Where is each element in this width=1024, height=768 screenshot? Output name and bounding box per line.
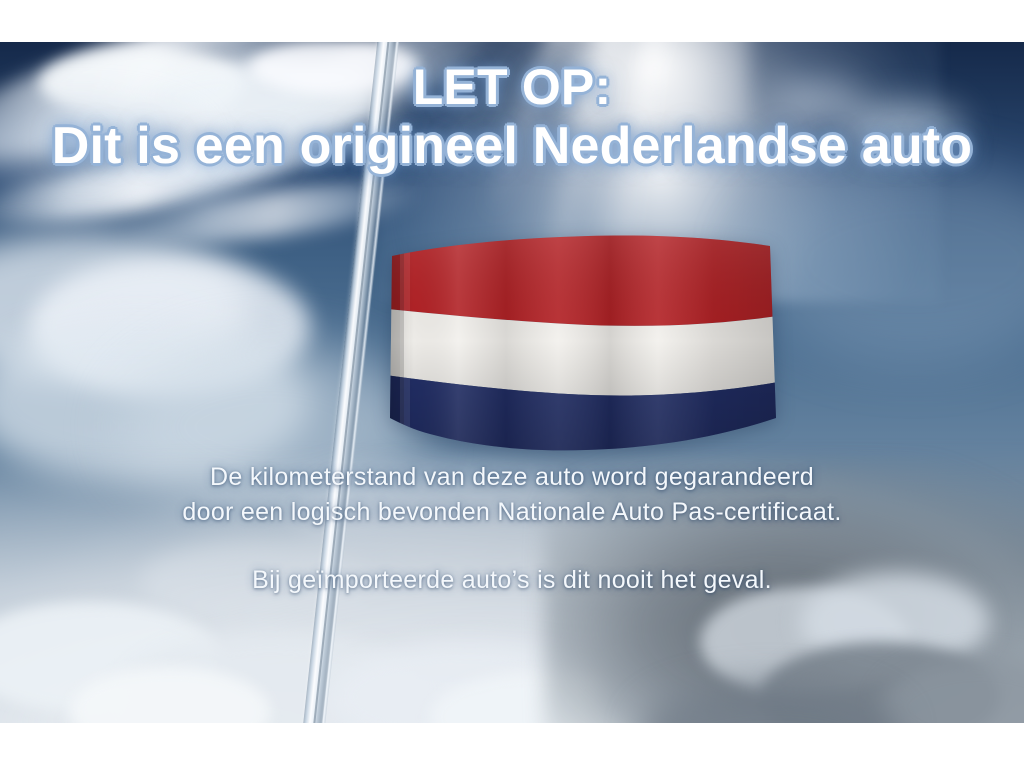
sky-photo-background [0,42,1024,723]
cloud-right-haze-2 [844,102,964,152]
letterbox-top-bar [0,0,1024,42]
netherlands-flag [378,222,778,460]
poster-image: LET OP: Dit is een origineel Nederlandse… [0,0,1024,768]
letterbox-bottom-bar [0,723,1024,768]
cloud-right-haze-3 [774,82,864,118]
cloud-upper-left-3 [250,42,420,94]
